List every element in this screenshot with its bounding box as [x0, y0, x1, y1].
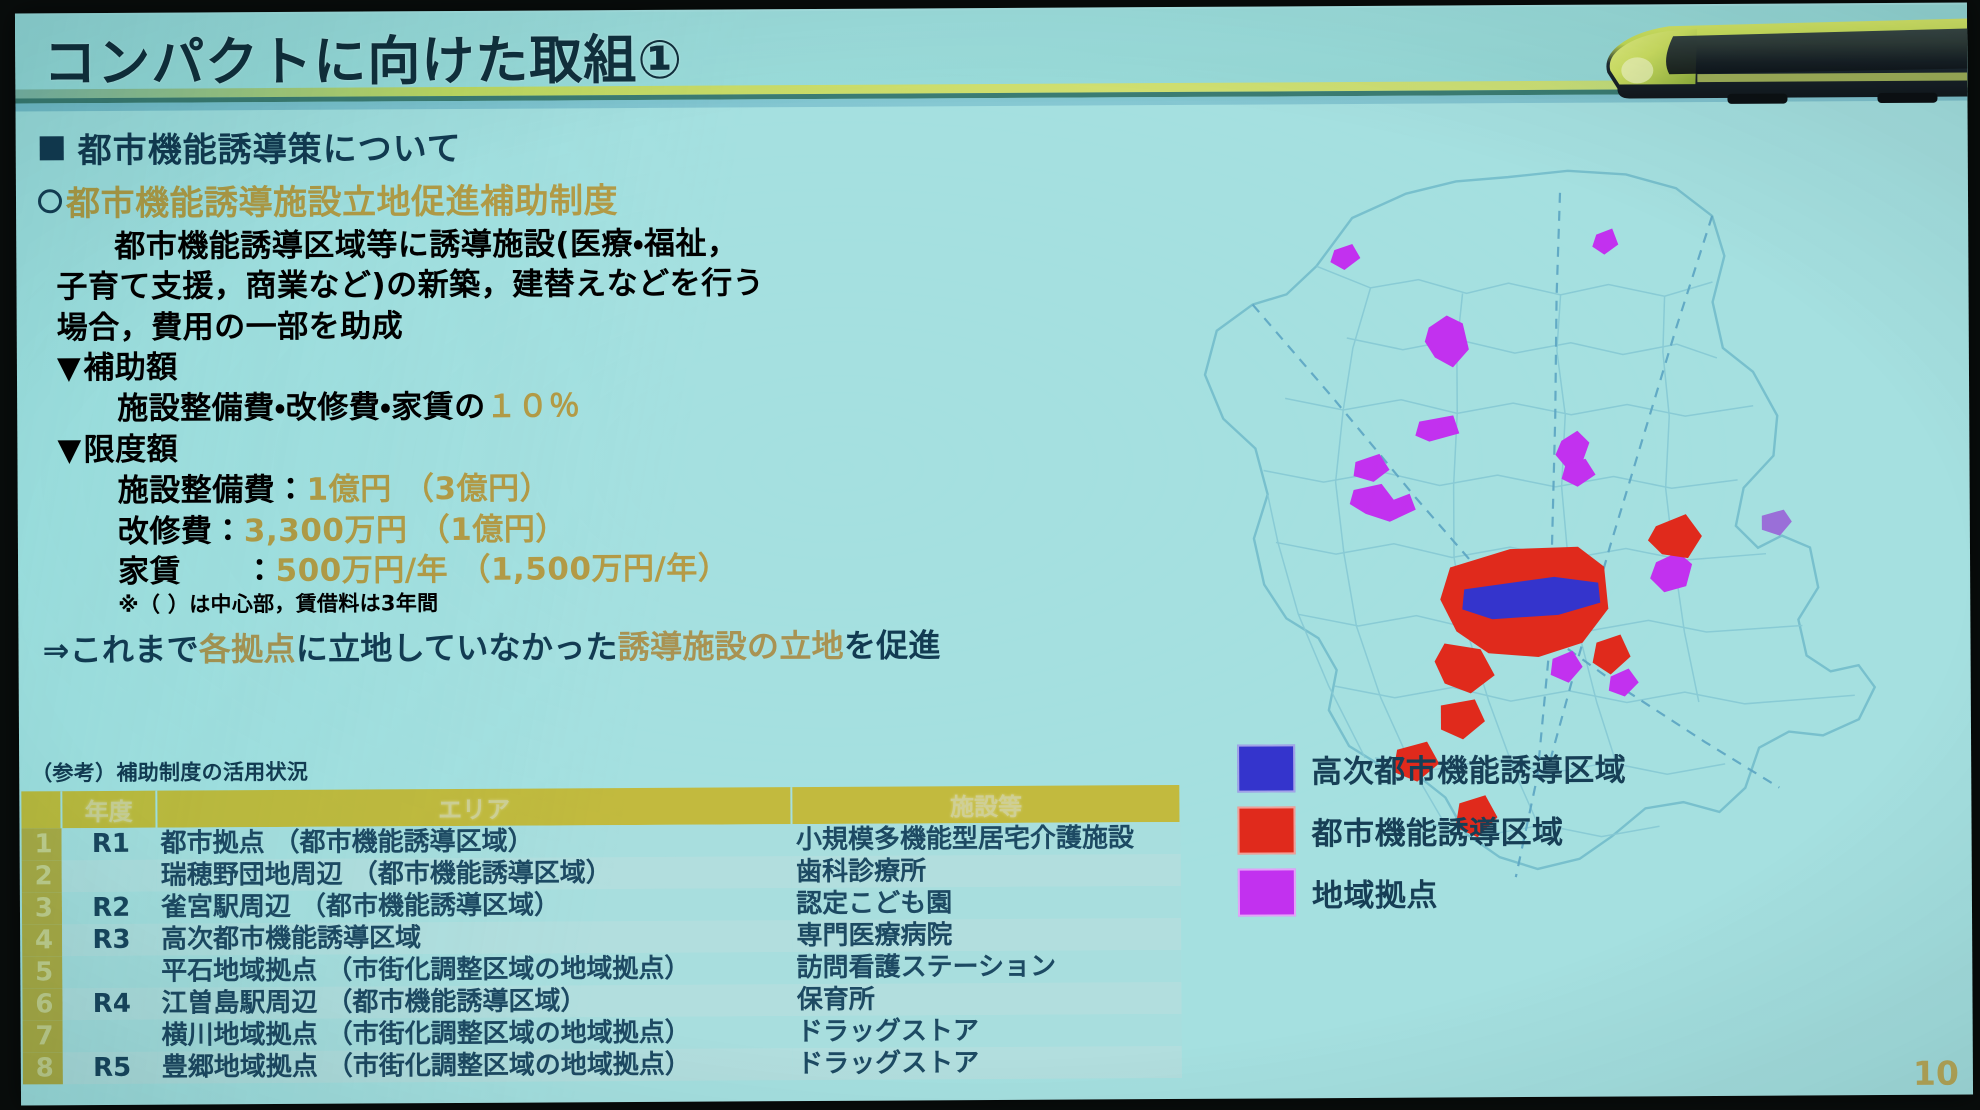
col-header-area: エリア: [156, 787, 792, 828]
col-header-no: [21, 791, 61, 828]
cell-area: 瑞穂野団地周辺 （都市機能誘導区域）: [157, 856, 793, 892]
cell-year: R3: [62, 924, 157, 957]
subsidy-section-heading: ▼補助額: [57, 343, 991, 390]
col-header-year: 年度: [61, 791, 156, 829]
col-header-facility: 施設等: [792, 785, 1181, 824]
cell-no: 6: [22, 988, 62, 1020]
cell-facility: ドラッグストア: [793, 1046, 1182, 1080]
cell-facility: 保育所: [793, 982, 1182, 1016]
conclusion-part-4: 誘導施設の立地: [618, 627, 844, 666]
legend-label-local-hub: 地域拠点: [1312, 869, 1438, 915]
legend-swatch-local-hub: [1238, 868, 1296, 916]
train-illustration: [1577, 9, 1968, 107]
heading-main-row: 都市機能誘導策について: [40, 118, 990, 172]
conclusion-line: ⇒これまで各拠点に立地していなかった誘導施設の立地を促進: [42, 620, 992, 671]
legend-item-induction: 都市機能誘導区域: [1237, 804, 1626, 854]
cell-facility: 専門医療病院: [792, 918, 1181, 952]
page-number: 10: [1913, 1054, 1959, 1093]
body-line-3: 場合，費用の一部を助成: [57, 303, 991, 349]
slide-canvas: コンパクトに向けた取組①: [15, 3, 1973, 1106]
cell-facility: 認定こども園: [792, 886, 1181, 920]
map-legend: 高次都市機能誘導区域 都市機能誘導区域 地域拠点: [1237, 742, 1627, 930]
legend-swatch-high-order: [1237, 744, 1295, 792]
heading-sub-text: 都市機能誘導施設立地促進補助制度: [66, 181, 618, 224]
cell-area: 雀宮駅周辺 （都市機能誘導区域）: [157, 888, 793, 924]
cell-no: 5: [22, 956, 62, 988]
legend-swatch-induction: [1237, 806, 1295, 854]
cell-area: 豊郷地域拠点 （市街化調整区域の地域拠点）: [158, 1048, 794, 1084]
body-line-1: 都市機能誘導区域等に誘導施設(医療・福祉，: [114, 222, 990, 267]
cell-area: 高次都市機能誘導区域: [157, 920, 793, 956]
legend-label-induction: 都市機能誘導区域: [1311, 806, 1563, 852]
cell-year: R2: [62, 892, 157, 925]
cell-facility: 訪問看護ステーション: [793, 950, 1182, 984]
conclusion-part-1: これまで: [70, 631, 199, 670]
content-column: 都市機能誘導策について 都市機能誘導施設立地促進補助制度 都市機能誘導区域等に誘…: [30, 112, 993, 672]
limit-row-facility: 施設整備費：1億円 （3億円）: [118, 466, 992, 511]
cell-no: 7: [23, 1020, 63, 1052]
cell-year: [62, 1020, 157, 1053]
table-caption: （参考）補助制度の活用状況: [31, 756, 308, 788]
east-marker-icon: [1762, 510, 1792, 536]
heading-main-text: 都市機能誘導策について: [78, 129, 462, 171]
limit-section-heading: ▼限度額: [57, 425, 991, 472]
conclusion-part-2: 各拠点: [199, 630, 296, 669]
table-header-row: 年度 エリア 施設等: [21, 785, 1180, 828]
legend-label-high-order: 高次都市機能誘導区域: [1311, 744, 1626, 791]
limit-row-rent: 家賃 ：500万円/年 （1,500万円/年）: [118, 547, 992, 592]
conclusion-part-5: を促進: [844, 627, 941, 666]
limit-row-rent-label: 家賃 ：: [118, 553, 276, 590]
cell-no: 4: [22, 924, 62, 956]
limit-section-title: 限度額: [84, 431, 179, 468]
conclusion-arrow-icon: ⇒: [42, 632, 69, 670]
cell-year: R1: [61, 828, 156, 861]
subsidy-rate-value: １０％: [486, 389, 581, 426]
cell-facility: 歯科診療所: [792, 854, 1181, 888]
circle-bullet-icon: [38, 189, 62, 213]
cell-facility: ドラッグストア: [793, 1014, 1182, 1048]
limit-row-facility-label: 施設整備費：: [118, 472, 307, 509]
cell-year: [62, 956, 157, 989]
subsidy-section-title: 補助額: [83, 349, 178, 386]
subsidy-usage-table: 年度 エリア 施設等 1 R1 都市拠点 （都市機能誘導区域） 小規模多機能型居…: [21, 785, 1183, 1084]
limit-row-renovation-value: 3,300万円 （1億円）: [244, 511, 567, 549]
cell-area: 横川地域拠点 （市街化調整区域の地域拠点）: [158, 1016, 794, 1052]
cell-year: R5: [63, 1052, 158, 1085]
limit-row-renovation-label: 改修費：: [118, 513, 244, 550]
triangle-down-icon: ▼: [57, 348, 82, 390]
triangle-down-icon-2: ▼: [57, 430, 82, 472]
subsidy-rate-label: 施設整備費・改修費・家賃の: [117, 389, 486, 427]
limit-row-rent-value: 500万円/年 （1,500万円/年）: [275, 550, 729, 589]
limit-row-facility-value: 1億円 （3億円）: [307, 471, 552, 508]
cell-area: 都市拠点 （都市機能誘導区域）: [156, 824, 792, 860]
title-bar: コンパクトに向けた取組①: [15, 5, 1967, 108]
cell-area: 平石地域拠点 （市街化調整区域の地域拠点）: [157, 952, 793, 988]
conclusion-part-3: に立地していなかった: [296, 629, 618, 669]
cell-no: 3: [22, 892, 62, 924]
cell-no: 2: [22, 860, 62, 892]
heading-sub-row: 都市機能誘導施設立地促進補助制度: [38, 171, 990, 225]
limit-row-renovation: 改修費：3,300万円 （1億円）: [118, 507, 992, 552]
cell-facility: 小規模多機能型居宅介護施設: [792, 822, 1181, 856]
cell-year: [61, 860, 156, 893]
cell-area: 江曽島駅周辺 （都市機能誘導区域）: [157, 984, 793, 1020]
limit-note: ※（ ）は中心部，賃借料は3年間: [118, 587, 992, 619]
subsidy-rate-row: 施設整備費・改修費・家賃の１０％: [117, 384, 991, 429]
cell-no: 8: [23, 1052, 63, 1084]
legend-item-high-order: 高次都市機能誘導区域: [1237, 742, 1626, 792]
legend-item-local-hub: 地域拠点: [1238, 866, 1627, 916]
table-row: 8 R5 豊郷地域拠点 （市街化調整区域の地域拠点） ドラッグストア: [23, 1046, 1182, 1084]
photo-frame: コンパクトに向けた取組①: [0, 0, 1980, 1110]
city-map-svg: [1155, 95, 1973, 1106]
cell-no: 1: [22, 828, 62, 860]
body-line-2: 子育て支援，商業など)の新築，建替えなどを行う: [56, 262, 990, 308]
square-bullet-icon: [40, 136, 64, 160]
cell-year: R4: [62, 988, 157, 1021]
city-map-panel: 高次都市機能誘導区域 都市機能誘導区域 地域拠点: [1155, 95, 1973, 1106]
